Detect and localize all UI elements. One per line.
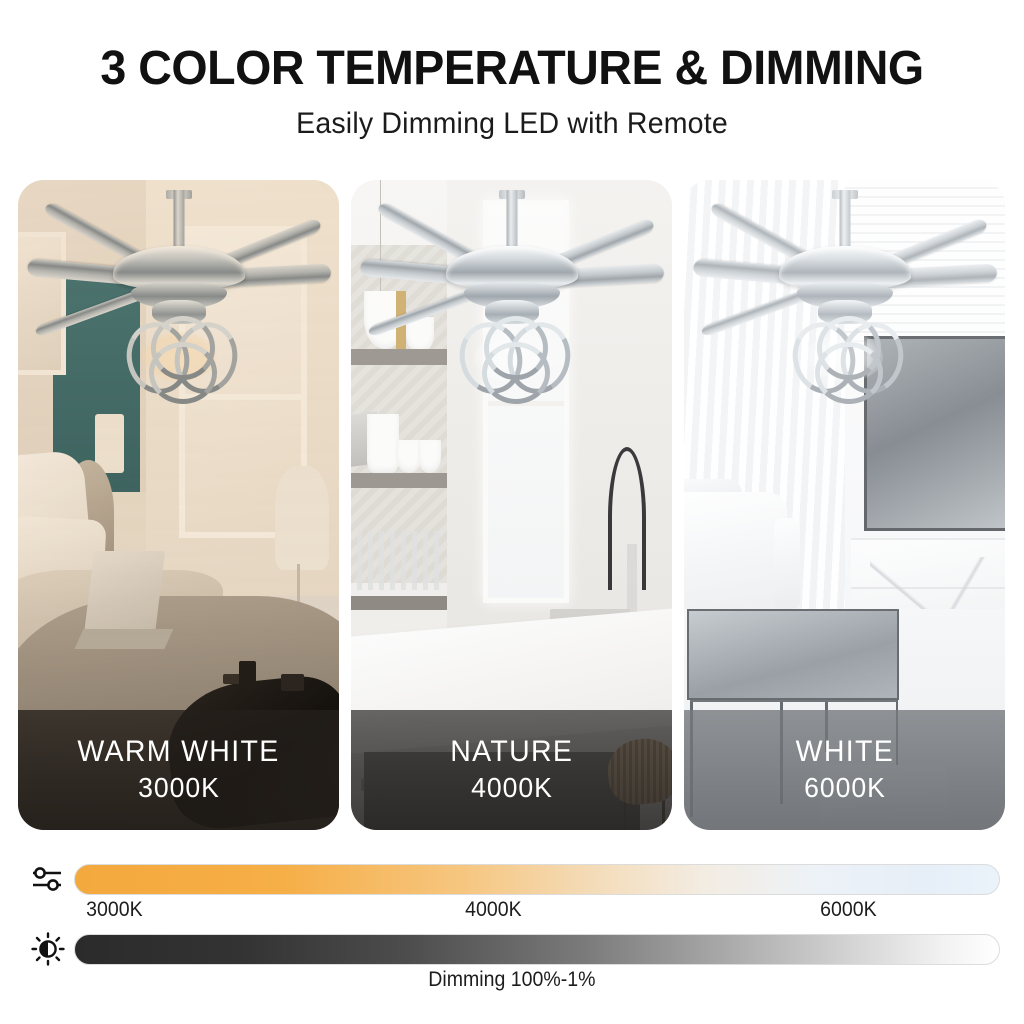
panel-temperature: 6000K [804,770,886,805]
page-title: 3 COLOR TEMPERATURE & DIMMING [15,0,1008,94]
panel-warm-white[interactable]: WARM WHITE 3000K [18,180,339,830]
cct-label-3000k: 3000K [86,898,142,922]
panel-name: WARM WHITE [77,735,279,770]
header: 3 COLOR TEMPERATURE & DIMMING Easily Dim… [0,0,1024,141]
ceiling-fan-warm [18,190,339,420]
panel-temperature: 4000K [471,770,553,805]
dimming-gradient-bar[interactable] [74,934,1000,965]
panel-caption-white: WHITE 6000K [684,710,1005,830]
page-subtitle: Easily Dimming LED with Remote [26,94,999,141]
color-temperature-gradient-bar[interactable] [74,864,1000,895]
ceiling-fan-white [684,190,1005,420]
ceiling-fan-nature [351,190,672,420]
color-temperature-labels: 3000K 4000K 6000K [0,898,1024,924]
sliders-icon [22,862,74,896]
panel-caption-nature: NATURE 4000K [351,710,672,830]
brightness-icon [22,932,74,966]
color-temperature-panels: WARM WHITE 3000K [18,180,1006,830]
panel-nature[interactable]: NATURE 4000K [351,180,672,830]
panel-name: NATURE [450,735,573,770]
dimming-label: Dimming 100%-1% [428,968,595,992]
panel-temperature: 3000K [138,770,220,805]
color-temperature-slider[interactable] [0,862,1024,896]
panel-white[interactable]: WHITE 6000K [684,180,1005,830]
panel-name: WHITE [795,735,893,770]
cct-label-6000k: 6000K [820,898,876,922]
dimming-label-wrapper: Dimming 100%-1% [0,968,1024,992]
cct-label-4000k: 4000K [465,898,521,922]
dimming-slider[interactable] [0,932,1024,966]
panel-caption-warm-white: WARM WHITE 3000K [18,710,339,830]
